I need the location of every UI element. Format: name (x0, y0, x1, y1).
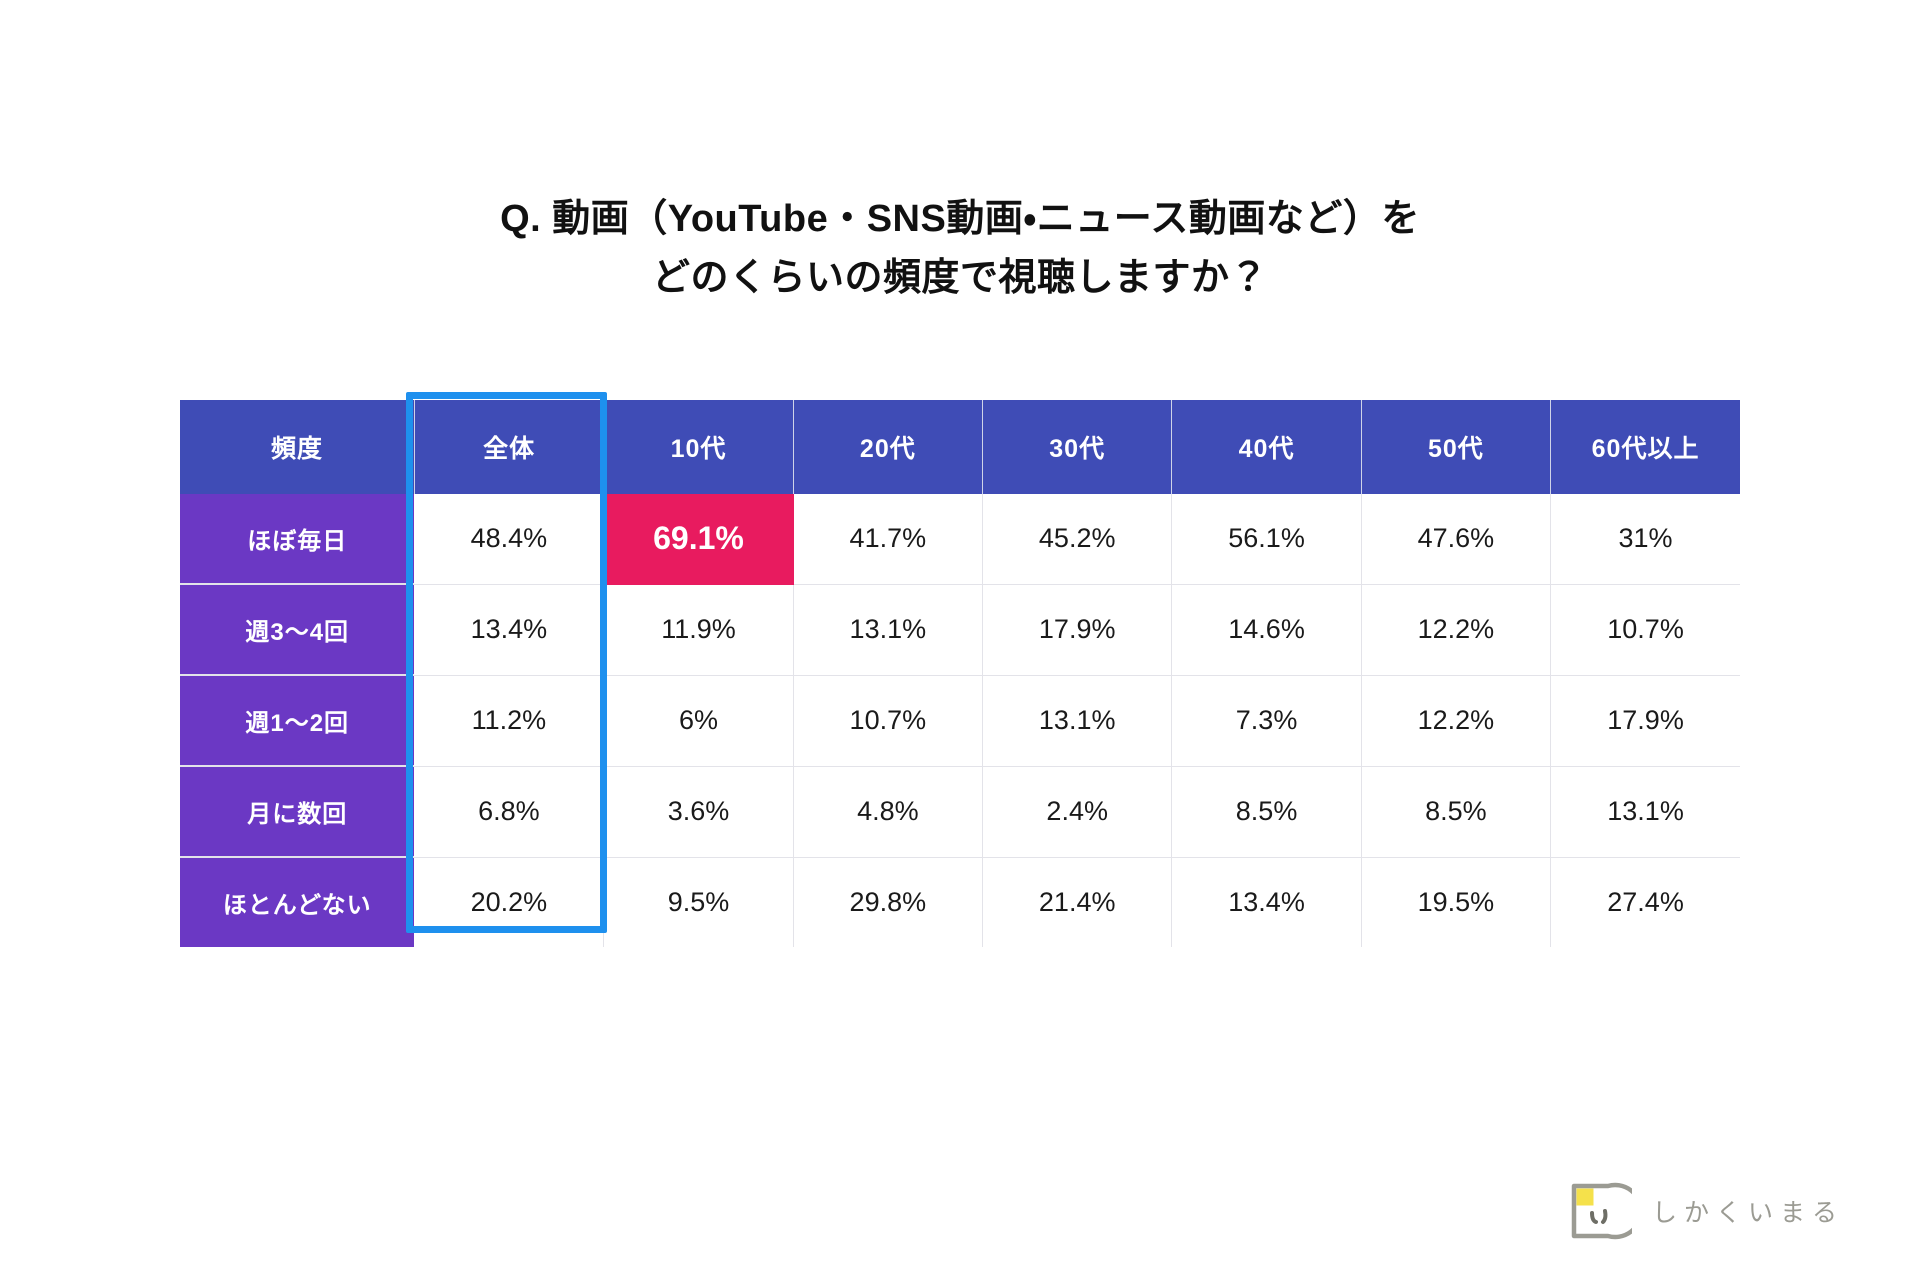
cell-almost-daily-50s: 47.6% (1361, 494, 1550, 584)
cell-few-times-month-40s: 8.5% (1172, 766, 1361, 857)
survey-table: 頻度 全体 10代 20代 30代 40代 50代 60代以上 ほぼ毎日 48.… (180, 400, 1740, 947)
column-header-20s: 20代 (793, 400, 982, 494)
row-header-1-2-times-week: 週1〜2回 (180, 675, 414, 766)
cell-1-2-times-week-50s: 12.2% (1361, 675, 1550, 766)
table-body: ほぼ毎日 48.4% 69.1% 41.7% 45.2% 56.1% 47.6%… (180, 494, 1740, 947)
cell-few-times-month-50s: 8.5% (1361, 766, 1550, 857)
page-title-line-1: Q. 動画（YouTube・SNS動画・ニュース動画など）を (0, 190, 1920, 249)
row-header-few-times-month: 月に数回 (180, 766, 414, 857)
table-row: 月に数回 6.8% 3.6% 4.8% 2.4% 8.5% 8.5% 13.1% (180, 766, 1740, 857)
cell-almost-never-40s: 13.4% (1172, 857, 1361, 947)
column-header-60s-plus: 60代以上 (1551, 400, 1740, 494)
row-header-3-4-times-week: 週3〜4回 (180, 584, 414, 675)
table-row: ほぼ毎日 48.4% 69.1% 41.7% 45.2% 56.1% 47.6%… (180, 494, 1740, 584)
survey-table-container: 頻度 全体 10代 20代 30代 40代 50代 60代以上 ほぼ毎日 48.… (180, 400, 1740, 947)
table-header-row: 頻度 全体 10代 20代 30代 40代 50代 60代以上 (180, 400, 1740, 494)
shikakumaru-square-circle-icon (1570, 1182, 1632, 1240)
cell-few-times-month-overall: 6.8% (414, 766, 603, 857)
cell-almost-never-20s: 29.8% (793, 857, 982, 947)
table-row: 週1〜2回 11.2% 6% 10.7% 13.1% 7.3% 12.2% 17… (180, 675, 1740, 766)
cell-almost-daily-30s: 45.2% (983, 494, 1172, 584)
cell-almost-daily-60s-plus: 31% (1551, 494, 1740, 584)
column-header-50s: 50代 (1361, 400, 1550, 494)
cell-1-2-times-week-20s: 10.7% (793, 675, 982, 766)
page-title: Q. 動画（YouTube・SNS動画・ニュース動画など）を どのくらいの頻度で… (0, 190, 1920, 308)
column-header-overall: 全体 (414, 400, 603, 494)
cell-1-2-times-week-overall: 11.2% (414, 675, 603, 766)
brand-logo-text: しかくいまる (1652, 1193, 1844, 1229)
cell-almost-daily-40s: 56.1% (1172, 494, 1361, 584)
column-header-40s: 40代 (1172, 400, 1361, 494)
column-header-frequency: 頻度 (180, 400, 414, 494)
cell-almost-daily-overall: 48.4% (414, 494, 603, 584)
cell-almost-daily-10s: 69.1% (604, 494, 793, 584)
table-row: 週3〜4回 13.4% 11.9% 13.1% 17.9% 14.6% 12.2… (180, 584, 1740, 675)
brand-logo: しかくいまる (1570, 1182, 1844, 1240)
cell-few-times-month-30s: 2.4% (983, 766, 1172, 857)
cell-almost-never-50s: 19.5% (1361, 857, 1550, 947)
cell-almost-daily-20s: 41.7% (793, 494, 982, 584)
cell-almost-never-30s: 21.4% (983, 857, 1172, 947)
cell-almost-never-60s-plus: 27.4% (1551, 857, 1740, 947)
cell-1-2-times-week-60s-plus: 17.9% (1551, 675, 1740, 766)
cell-1-2-times-week-10s: 6% (604, 675, 793, 766)
cell-3-4-times-week-10s: 11.9% (604, 584, 793, 675)
cell-few-times-month-20s: 4.8% (793, 766, 982, 857)
cell-3-4-times-week-40s: 14.6% (1172, 584, 1361, 675)
table-header: 頻度 全体 10代 20代 30代 40代 50代 60代以上 (180, 400, 1740, 494)
column-header-10s: 10代 (604, 400, 793, 494)
cell-few-times-month-60s-plus: 13.1% (1551, 766, 1740, 857)
table-row: ほとんどない 20.2% 9.5% 29.8% 21.4% 13.4% 19.5… (180, 857, 1740, 947)
cell-few-times-month-10s: 3.6% (604, 766, 793, 857)
cell-3-4-times-week-50s: 12.2% (1361, 584, 1550, 675)
cell-1-2-times-week-40s: 7.3% (1172, 675, 1361, 766)
cell-almost-never-10s: 9.5% (604, 857, 793, 947)
row-header-almost-never: ほとんどない (180, 857, 414, 947)
row-header-almost-daily: ほぼ毎日 (180, 494, 414, 584)
cell-3-4-times-week-30s: 17.9% (983, 584, 1172, 675)
cell-almost-never-overall: 20.2% (414, 857, 603, 947)
column-header-30s: 30代 (983, 400, 1172, 494)
page-title-line-2: どのくらいの頻度で視聴しますか？ (0, 249, 1920, 308)
cell-3-4-times-week-overall: 13.4% (414, 584, 603, 675)
cell-3-4-times-week-20s: 13.1% (793, 584, 982, 675)
cell-3-4-times-week-60s-plus: 10.7% (1551, 584, 1740, 675)
cell-1-2-times-week-30s: 13.1% (983, 675, 1172, 766)
